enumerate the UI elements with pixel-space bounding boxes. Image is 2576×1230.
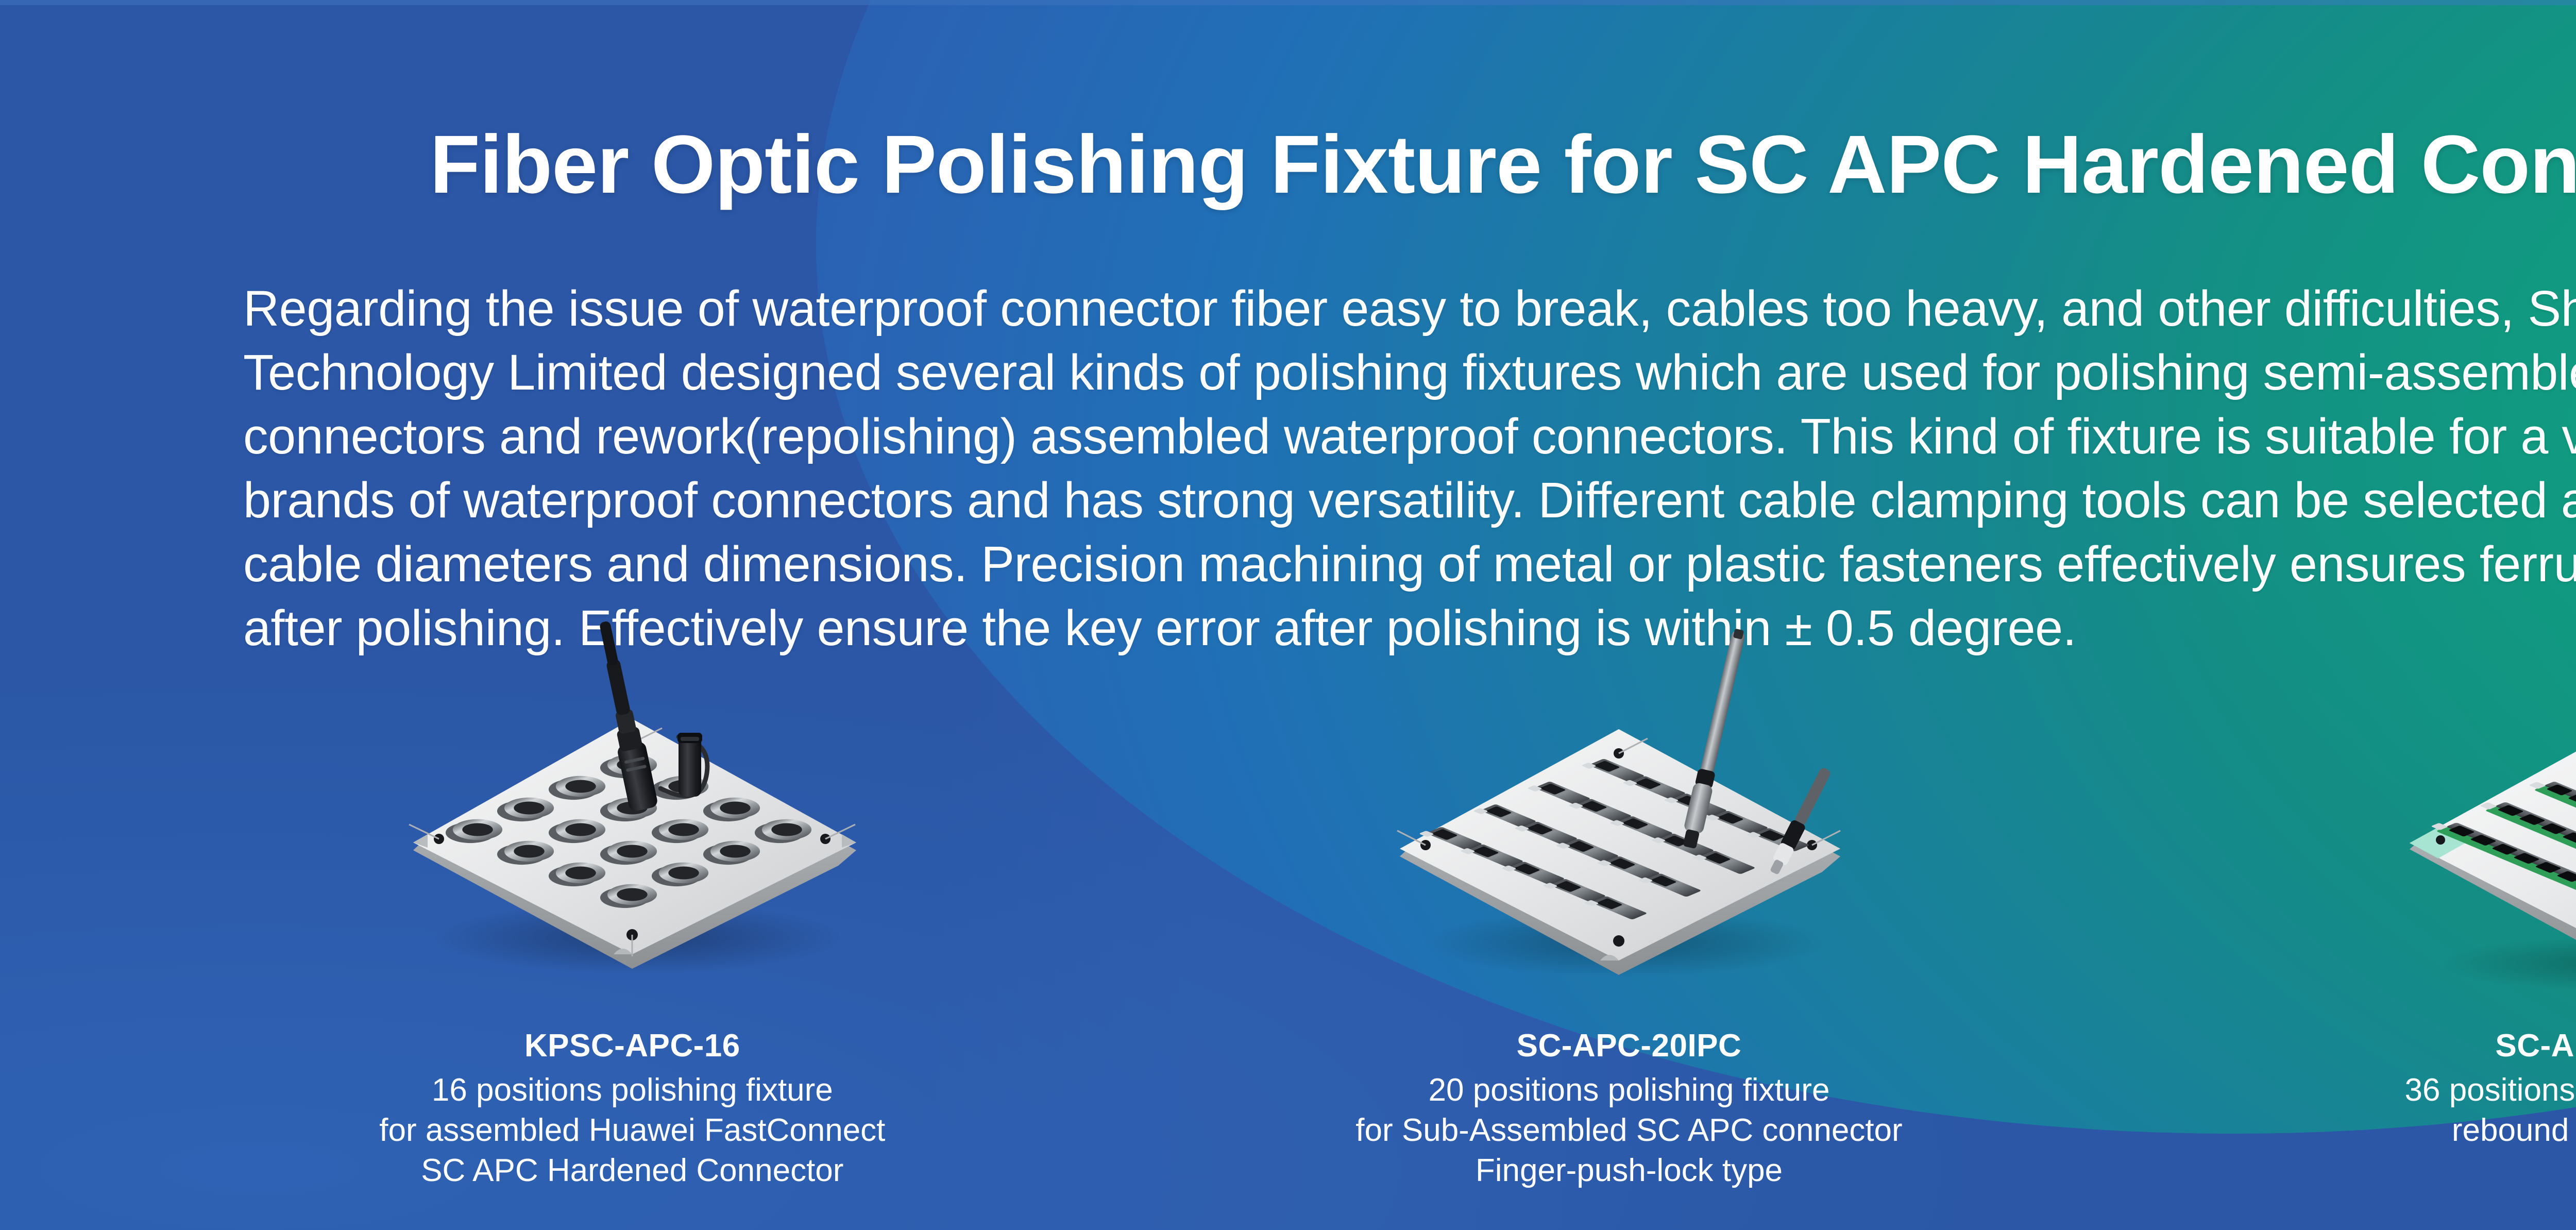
fixture-illustration-16	[323, 608, 941, 1020]
product-model: KPSC-APC-16	[379, 1027, 885, 1064]
product-image-kpsc-apc-16	[323, 608, 941, 1020]
page-title: Fiber Optic Polishing Fixture for SC APC…	[0, 121, 2576, 208]
product-caption-sc-apc-36-sub: SC-APC-36(SUB) 36 positions plug-and-pla…	[2405, 1027, 2576, 1151]
fixture-illustration-36	[2343, 670, 2576, 1020]
product-desc-line-1: 16 positions polishing fixture	[379, 1070, 885, 1110]
product-desc-line-2: for assembled Huawei FastConnect	[379, 1110, 885, 1151]
product-desc-line-2: for Sub-Assembled SC APC connector	[1355, 1110, 1902, 1151]
product-desc-line-1: 20 positions polishing fixture	[1355, 1070, 1902, 1110]
product-model: SC-APC-36(SUB)	[2405, 1027, 2576, 1064]
product-card-sc-apc-36-sub: SC-APC-36(SUB) 36 positions plug-and-pla…	[2224, 608, 2576, 1151]
product-desc-line-3: SC APC Hardened Connector	[379, 1151, 885, 1191]
description-paragraph: Regarding the issue of waterproof connec…	[243, 277, 2576, 660]
product-desc-line-2: rebound polishing fixture	[2405, 1110, 2576, 1151]
product-desc-line-1: 36 positions plug-and-play type	[2405, 1070, 2576, 1110]
product-card-kpsc-apc-16: KPSC-APC-16 16 positions polishing fixtu…	[230, 608, 1034, 1191]
product-caption-kpsc-apc-16: KPSC-APC-16 16 positions polishing fixtu…	[379, 1027, 885, 1191]
product-list: KPSC-APC-16 16 positions polishing fixtu…	[0, 608, 2576, 1226]
fixture-illustration-20	[1320, 608, 1938, 1020]
product-card-sc-apc-20ipc: SC-APC-20IPC 20 positions polishing fixt…	[1227, 608, 2031, 1191]
product-caption-sc-apc-20ipc: SC-APC-20IPC 20 positions polishing fixt…	[1355, 1027, 1902, 1191]
product-banner: Fiber Optic Polishing Fixture for SC APC…	[0, 0, 2576, 1230]
product-image-sc-apc-20ipc	[1320, 608, 1938, 1020]
product-image-sc-apc-36-sub	[2317, 670, 2576, 1020]
product-desc-line-3: Finger-push-lock type	[1355, 1151, 1902, 1191]
product-model: SC-APC-20IPC	[1355, 1027, 1902, 1064]
